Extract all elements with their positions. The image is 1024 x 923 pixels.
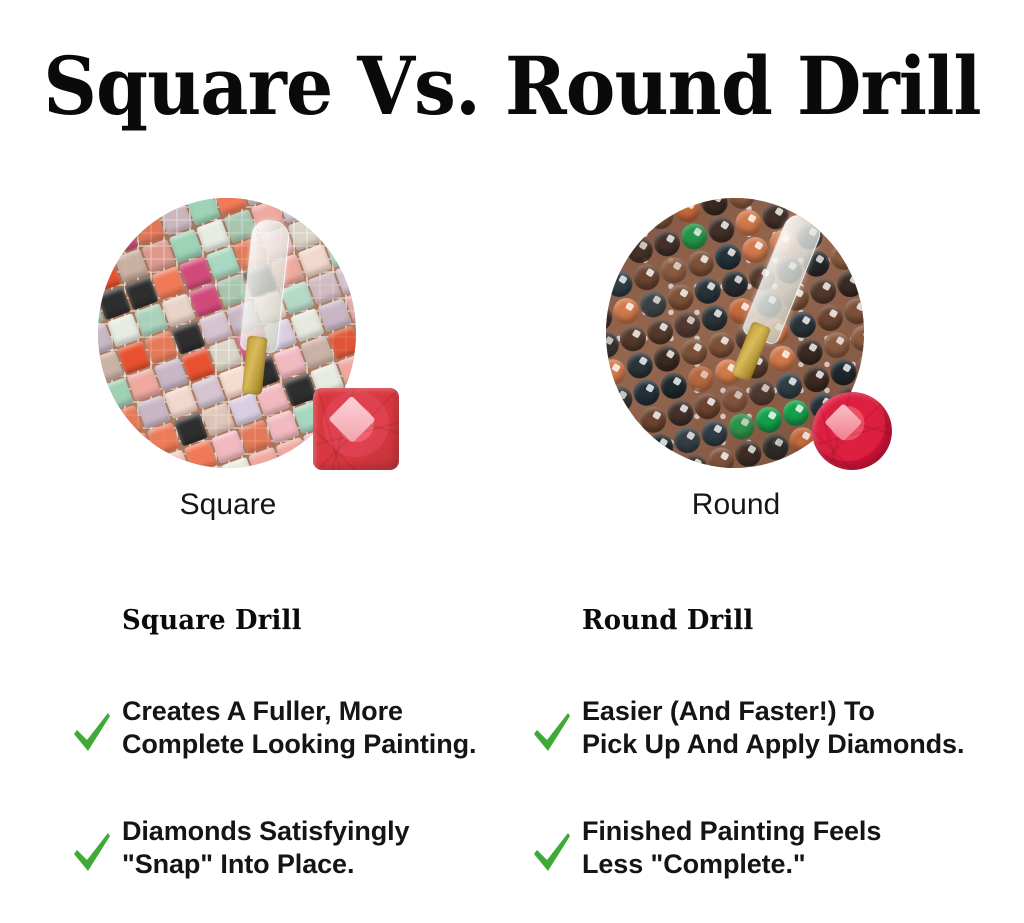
- bead: [638, 289, 670, 321]
- round-photo-caption: Round: [606, 487, 866, 523]
- bead: [814, 302, 846, 334]
- bead: [801, 363, 833, 395]
- page-title: Square Vs. Round Drill: [36, 44, 988, 128]
- bead: [692, 390, 724, 422]
- bead: [671, 424, 703, 456]
- round-drill-bullet-list: Easier (And Faster!) To Pick Up And Appl…: [520, 695, 980, 899]
- bead: [644, 431, 676, 463]
- check-icon: [532, 709, 572, 755]
- bead: [807, 275, 839, 307]
- bead: [678, 221, 710, 253]
- bead: [828, 241, 860, 273]
- list-item-label: Diamonds Satisfyingly "Snap" Into Place.: [122, 815, 520, 881]
- bead: [705, 329, 737, 361]
- list-item: Creates A Fuller, More Complete Looking …: [60, 695, 520, 779]
- square-gem-swatch: [313, 388, 399, 470]
- bead: [610, 295, 642, 327]
- square-drill-bullet-list: Creates A Fuller, More Complete Looking …: [60, 695, 520, 899]
- bead: [814, 198, 846, 218]
- bead: [794, 336, 826, 368]
- bead: [746, 377, 778, 409]
- check-icon: [532, 829, 572, 875]
- bead: [631, 377, 663, 409]
- bead: [733, 438, 765, 468]
- bead: [624, 234, 656, 266]
- bead: [726, 411, 758, 443]
- bead: [651, 343, 683, 375]
- list-item-label: Easier (And Faster!) To Pick Up And Appl…: [582, 695, 980, 761]
- bead: [841, 295, 864, 327]
- bead: [672, 198, 704, 225]
- bead: [835, 268, 864, 300]
- bead: [606, 241, 628, 273]
- bead: [658, 255, 690, 287]
- square-photo-block: [98, 198, 398, 473]
- bead: [685, 248, 717, 280]
- bead: [644, 316, 676, 348]
- bead: [699, 418, 731, 450]
- square-drill-column: Square Drill Creates A Fuller, More Comp…: [60, 605, 520, 923]
- bead: [760, 431, 792, 463]
- bead: [624, 350, 656, 382]
- bead: [665, 397, 697, 429]
- bead: [678, 452, 710, 468]
- bead: [651, 227, 683, 259]
- round-drill-column: Round Drill Easier (And Faster!) To Pick…: [520, 605, 980, 923]
- bead: [821, 214, 853, 246]
- square-drill-heading: Square Drill: [122, 605, 504, 637]
- bead: [692, 275, 724, 307]
- bead: [821, 329, 853, 361]
- list-item-label: Finished Painting Feels Less "Complete.": [582, 815, 980, 881]
- list-item: Easier (And Faster!) To Pick Up And Appl…: [520, 695, 980, 779]
- bead: [644, 200, 676, 232]
- bead: [855, 234, 864, 266]
- bead: [780, 397, 812, 429]
- bead: [848, 323, 864, 355]
- bead: [753, 404, 785, 436]
- round-drill-heading: Round Drill: [582, 605, 964, 637]
- bead: [706, 214, 738, 246]
- round-photo-block: [606, 198, 906, 473]
- bead: [678, 336, 710, 368]
- bead: [733, 207, 765, 239]
- bead: [606, 384, 635, 416]
- bead: [787, 309, 819, 341]
- bead: [672, 309, 704, 341]
- bead: [617, 323, 649, 355]
- bead: [828, 357, 860, 389]
- bead: [617, 207, 649, 239]
- list-item: Finished Painting Feels Less "Complete.": [520, 815, 980, 899]
- bead: [712, 241, 744, 273]
- bead: [773, 370, 805, 402]
- list-item-label: Creates A Fuller, More Complete Looking …: [122, 695, 520, 761]
- bead: [617, 438, 649, 468]
- bead: [638, 404, 670, 436]
- bead: [685, 363, 717, 395]
- bead: [719, 384, 751, 416]
- bead: [631, 261, 663, 293]
- bead: [606, 356, 628, 388]
- bead: [658, 370, 690, 402]
- round-gem-swatch: [812, 392, 892, 470]
- bead: [719, 268, 751, 300]
- bead: [855, 350, 864, 382]
- square-photo-caption: Square: [98, 487, 358, 523]
- check-icon: [72, 709, 112, 755]
- bead: [606, 268, 635, 300]
- bead: [767, 458, 799, 468]
- bead: [767, 343, 799, 375]
- bead: [740, 234, 772, 266]
- bead: [848, 207, 864, 239]
- check-icon: [72, 829, 112, 875]
- bead: [699, 302, 731, 334]
- bead: [699, 198, 731, 218]
- list-item: Diamonds Satisfyingly "Snap" Into Place.: [60, 815, 520, 899]
- bead: [705, 445, 737, 468]
- bead: [665, 282, 697, 314]
- bead: [610, 411, 642, 443]
- bead: [651, 458, 683, 468]
- infographic-page: Square Vs. Round Drill Sq: [0, 0, 1024, 923]
